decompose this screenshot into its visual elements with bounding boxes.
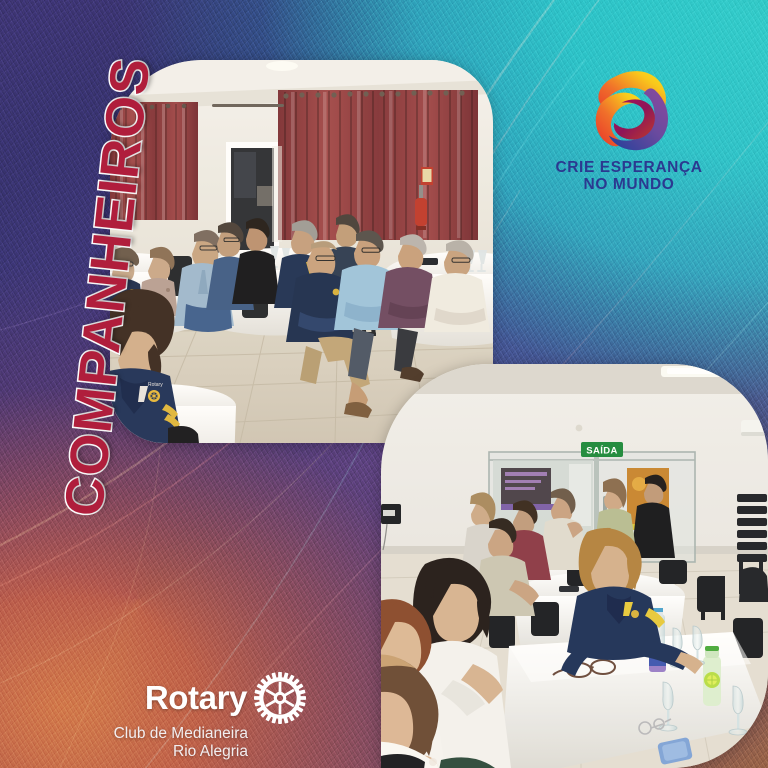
rotary-wordmark-row: Rotary (36, 672, 306, 724)
rotary-gear-wheel-icon (254, 672, 306, 724)
social-post-canvas: Rotary (0, 0, 768, 768)
create-hope-swirl-icon (574, 55, 684, 165)
photo-meeting-room-bottom: SAÍDA (381, 364, 768, 768)
rotary-club-lockup: Rotary (36, 672, 306, 756)
theme-logo-text: CRIE ESPERANÇA NO MUNDO (536, 159, 722, 193)
rotary-club-name-line-1: Club de Medianeira (36, 725, 306, 742)
theme-line-2: NO MUNDO (536, 176, 722, 193)
rotary-wordmark: Rotary (145, 681, 247, 715)
theme-line-1: CRIE ESPERANÇA (536, 159, 722, 176)
rotary-club-name-line-2: Rio Alegria (36, 743, 306, 760)
rotary-theme-logo: CRIE ESPERANÇA NO MUNDO (536, 55, 722, 195)
photo-bottom-illustration: SAÍDA (381, 364, 768, 768)
